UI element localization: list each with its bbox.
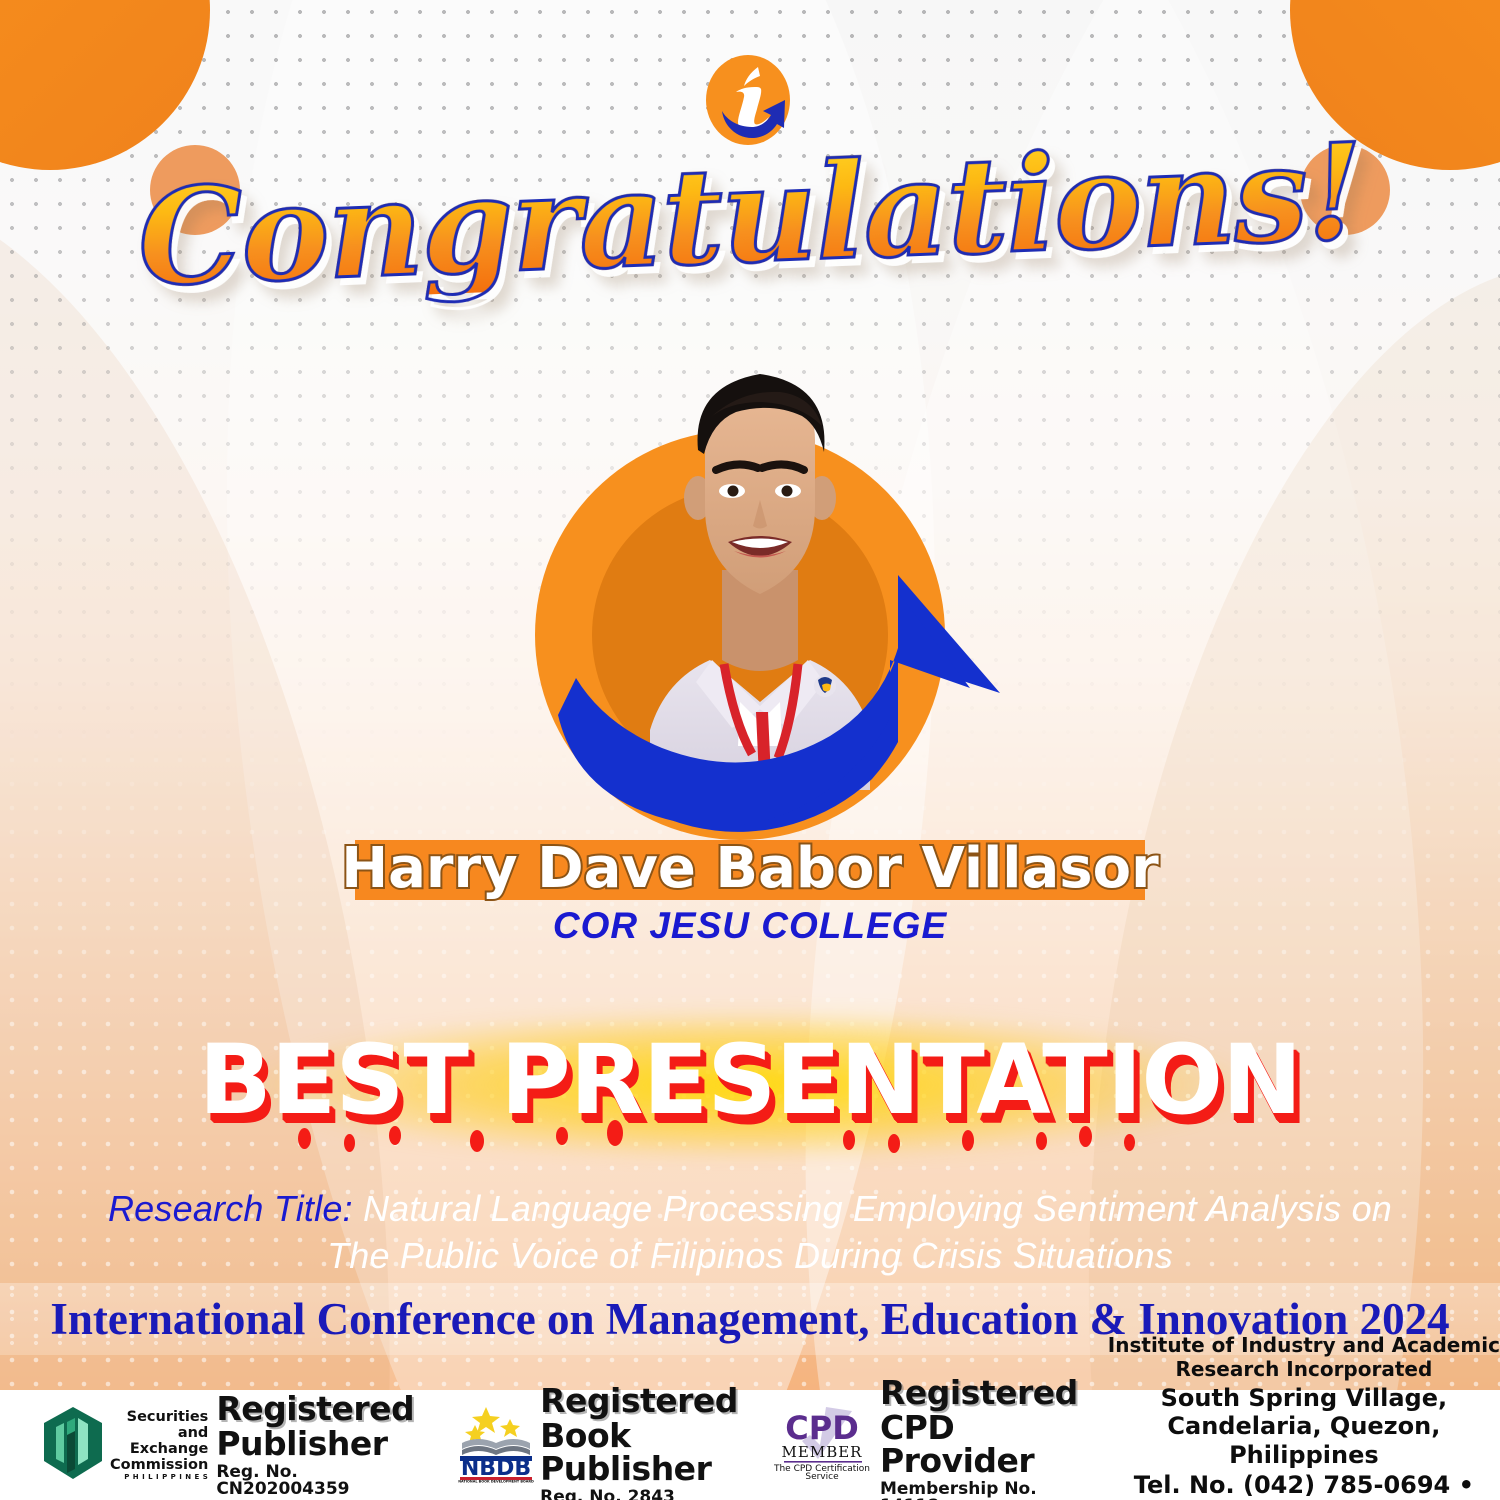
research-title-line1: Natural Language Processing Employing Se… — [363, 1188, 1392, 1229]
badge-nbdb-registered-book-publisher: NBDB NATIONAL BOOK DEVELOPMENT BOARD Reg… — [458, 1384, 738, 1500]
organization-name: Institute of Industry and Academic Resea… — [1108, 1334, 1500, 1381]
footer: Securities and Exchange Commission P H I… — [0, 1390, 1500, 1500]
nbdb-badge-line2: Book Publisher — [540, 1419, 738, 1485]
cpd-member-logo-icon: CPD MEMBER The CPD Certification Service — [774, 1405, 874, 1486]
sec-badge-text: Registered Publisher Reg. No. CN20200435… — [216, 1392, 414, 1498]
research-title: Research Title: Natural Language Process… — [60, 1185, 1440, 1279]
svg-text:Service: Service — [805, 1472, 839, 1481]
cpd-badge-text: Registered CPD Provider Membership No. 1… — [880, 1376, 1078, 1500]
sec-logo-line3: Commission — [110, 1457, 208, 1473]
sec-logo-line1: Securities and — [110, 1409, 208, 1441]
award-poster: Congratulations! — [0, 0, 1500, 1500]
sec-badge-line3: Reg. No. CN202004359 — [216, 1464, 414, 1498]
badge-cpd-registered-provider: CPD MEMBER The CPD Certification Service… — [774, 1376, 1078, 1500]
cpd-badge-line2: CPD Provider — [880, 1411, 1078, 1477]
organization-address: South Spring Village, Candelaria, Quezon… — [1108, 1384, 1500, 1469]
nbdb-logo-icon: NBDB NATIONAL BOOK DEVELOPMENT BOARD — [458, 1403, 534, 1488]
cpd-badge-line1: Registered — [880, 1376, 1078, 1409]
sec-badge-line1: Registered — [216, 1392, 414, 1425]
sec-badge-line2: Publisher — [216, 1427, 414, 1460]
badge-sec-registered-publisher: Securities and Exchange Commission P H I… — [42, 1392, 414, 1498]
sec-philippines-logo-icon — [42, 1405, 104, 1486]
svg-text:MEMBER: MEMBER — [781, 1443, 862, 1461]
nbdb-badge-line1: Registered — [540, 1384, 738, 1417]
sec-logo-line2: Exchange — [110, 1441, 208, 1457]
nbdb-badge-text: Registered Book Publisher Reg. No. 2843 — [540, 1384, 738, 1500]
cpd-badge-line3: Membership No. 14118 — [880, 1481, 1078, 1500]
awardee-photo-block — [500, 330, 1020, 850]
organization-contact-block: Institute of Industry and Academic Resea… — [1108, 1334, 1500, 1500]
svg-text:NATIONAL BOOK DEVELOPMENT BOAR: NATIONAL BOOK DEVELOPMENT BOARD — [458, 1479, 534, 1483]
sec-logo-line4: P H I L I P P I N E S — [110, 1474, 208, 1482]
research-title-label: Research Title: — [108, 1188, 353, 1229]
awardee-affiliation: COR JESU COLLEGE — [0, 905, 1500, 947]
blue-curved-arrow-icon — [500, 330, 1020, 850]
award-title: BEST PRESENTATION — [0, 1030, 1500, 1130]
research-title-line2: The Public Voice of Filipinos During Cri… — [327, 1235, 1173, 1276]
organization-contact: Tel. No. (042) 785-0694 • Mobile No. (+6… — [1108, 1471, 1500, 1500]
svg-text:CPD: CPD — [785, 1409, 859, 1447]
nbdb-badge-line3: Reg. No. 2843 — [540, 1489, 738, 1500]
awardee-name: Harry Dave Babor Villasor — [0, 833, 1500, 905]
